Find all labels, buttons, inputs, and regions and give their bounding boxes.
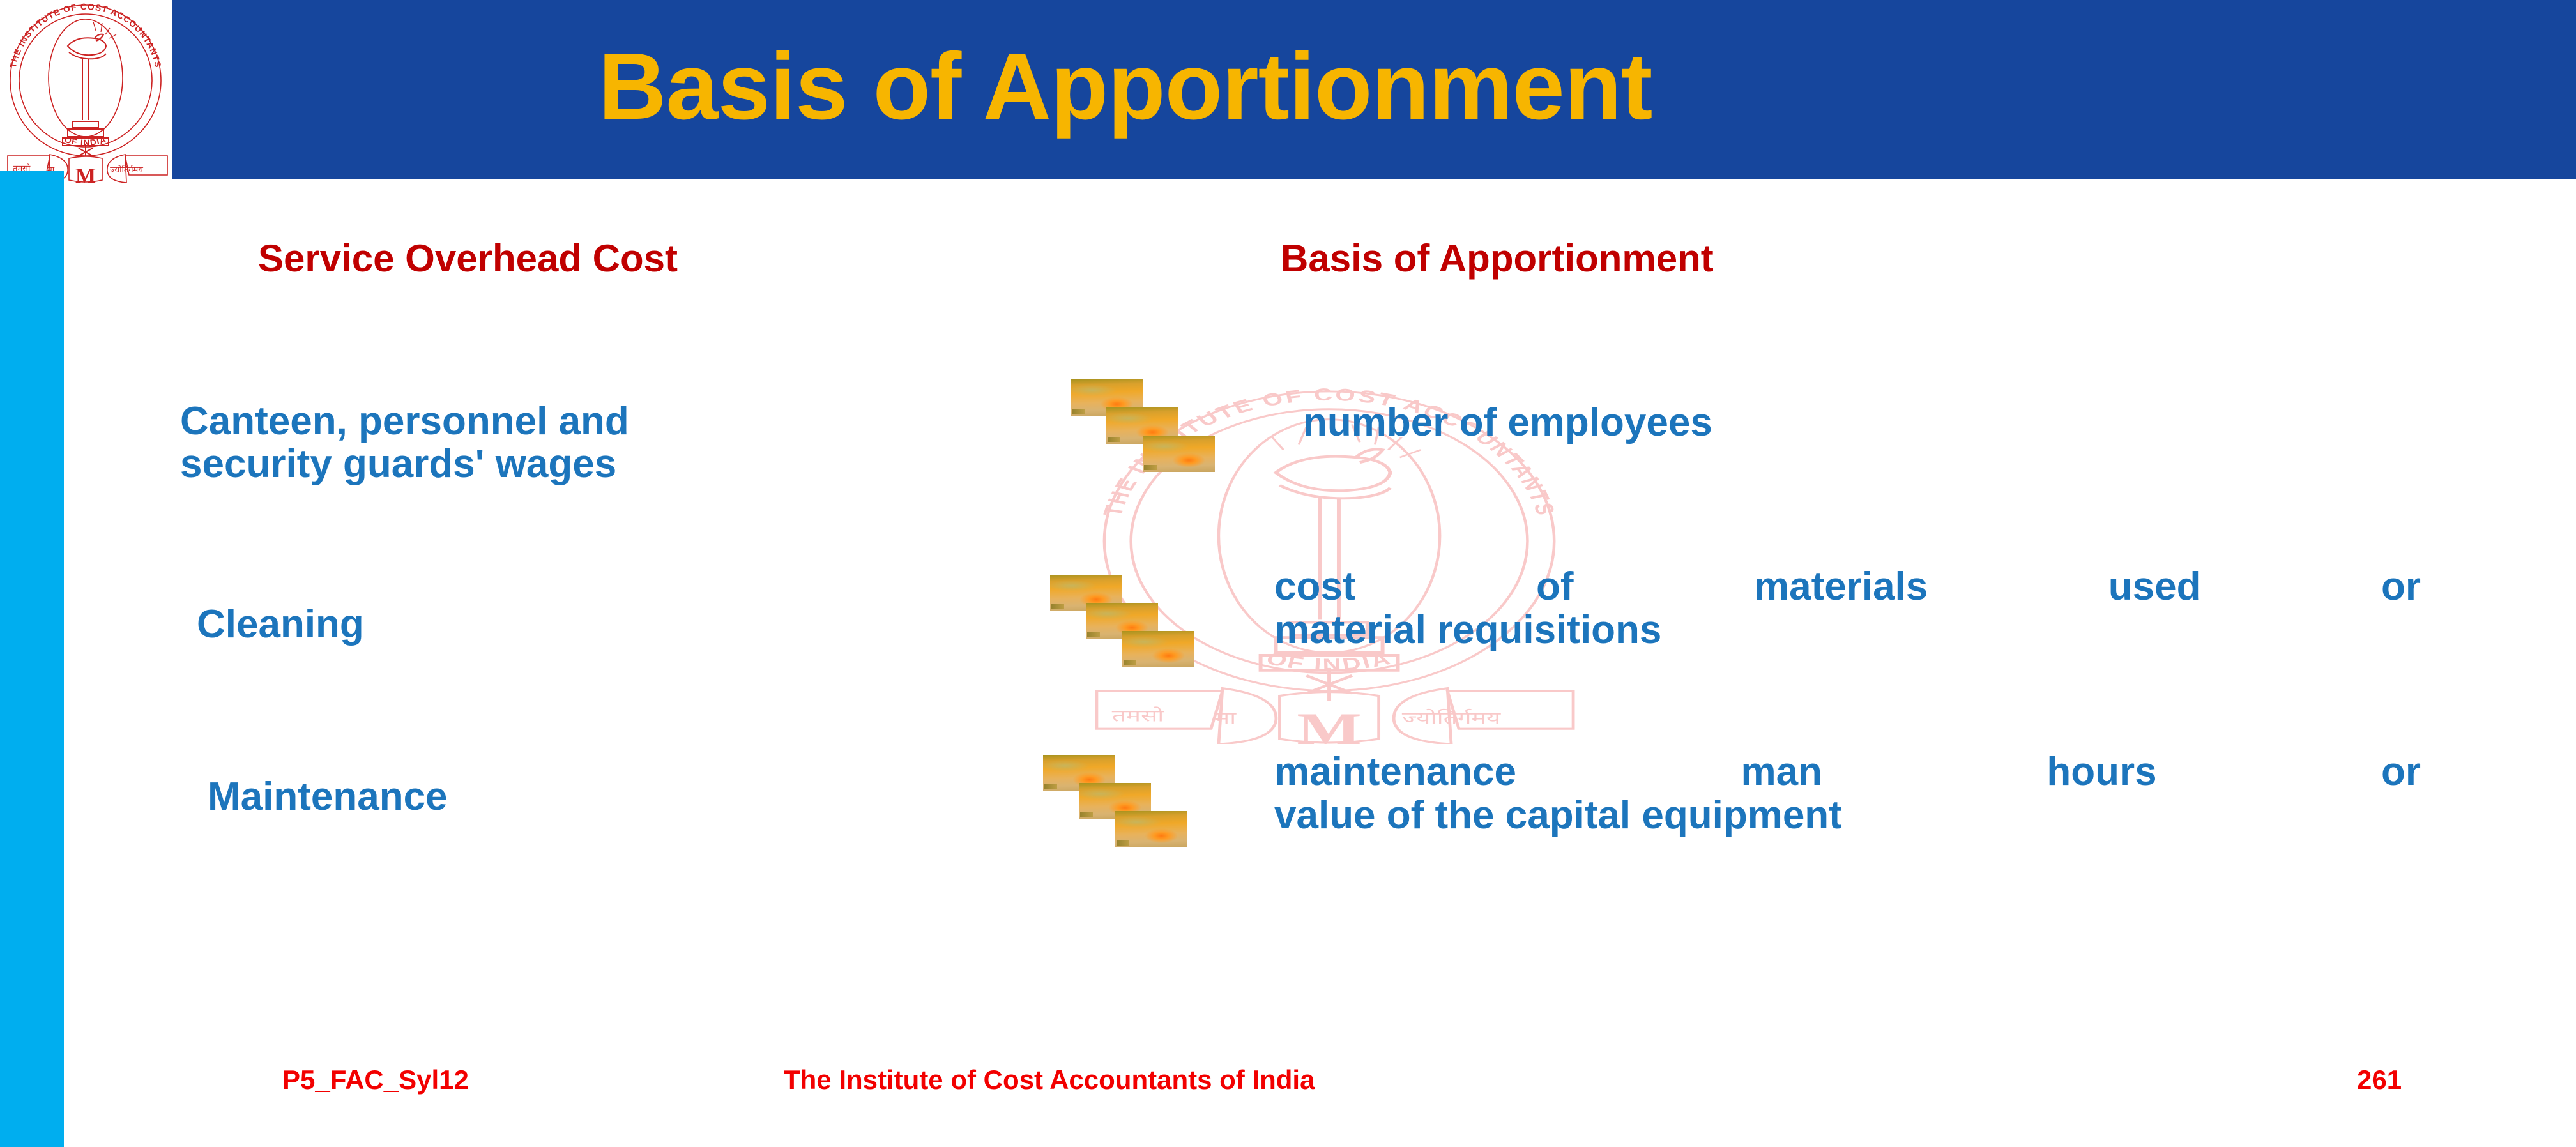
service-label-canteen-line2: security guards' wages [180,443,1030,486]
footer-page-number: 261 [2357,1067,2402,1093]
stair-bullet-icon [1071,379,1224,475]
basis-text-maintenance-man-hours-line2: value of the capital equipment [1274,794,2421,837]
title-banner: Basis of Apportionment [172,0,2576,179]
basis-text-cost-of-materials-line2: material requisitions [1274,609,2421,652]
justified-word: used [2108,565,2201,609]
column-header-basis-of-apportionment: Basis of Apportionment [1281,238,1714,278]
justified-word: hours [2046,750,2156,794]
footer-paper-code: P5_FAC_Syl12 [282,1067,469,1093]
justified-word: of [1536,565,1574,609]
justified-word: man [1741,750,1822,794]
stair-bullet-tile [1143,436,1215,472]
basis-text-number-of-employees-line1: number of employees [1303,401,2453,444]
basis-text-maintenance-man-hours: maintenancemanhoursor value of the capit… [1274,750,2421,837]
justified-word: materials [1754,565,1928,609]
column-header-service-overhead-cost: Service Overhead Cost [258,238,678,278]
stair-bullet-icon [1043,755,1196,851]
justified-word: or [2381,750,2421,794]
basis-text-cost-of-materials: costofmaterialsusedor material requisiti… [1274,565,2421,652]
svg-text:ज्योतिर्गमय: ज्योतिर्गमय [110,165,143,174]
justified-word: cost [1274,565,1355,609]
service-label-canteen: Canteen, personnel and security guards' … [180,400,1030,486]
basis-text-number-of-employees: number of employees [1303,401,2453,444]
footer-organisation: The Institute of Cost Accountants of Ind… [784,1067,1315,1093]
stair-bullet-icon [1050,575,1203,671]
page-title: Basis of Apportionment [598,40,1652,134]
justified-word: or [2381,565,2421,609]
stair-bullet-tile [1122,631,1194,667]
basis-text-maintenance-man-hours-line1: maintenancemanhoursor [1274,750,2421,794]
institute-seal-logo: तमसो मा ज्योतिर्गमय M THE INSTITUTE OF C… [5,3,170,183]
service-label-cleaning: Cleaning [197,604,899,646]
service-label-maintenance: Maintenance [208,776,910,819]
justified-word: maintenance [1274,750,1516,794]
content-area: Service Overhead Cost Basis of Apportion… [0,179,2576,1147]
service-label-maintenance-line1: Maintenance [208,776,910,819]
slide-footer: P5_FAC_Syl12 The Institute of Cost Accou… [0,1052,2576,1123]
service-label-canteen-line1: Canteen, personnel and [180,400,1030,443]
stair-bullet-tile [1115,811,1187,847]
slide-canvas: तमसो मा ज्योतिर्गमय M THE INSTITUTE OF C… [0,0,2576,1147]
basis-text-cost-of-materials-line1: costofmaterialsusedor [1274,565,2421,609]
service-label-cleaning-line1: Cleaning [197,604,899,646]
